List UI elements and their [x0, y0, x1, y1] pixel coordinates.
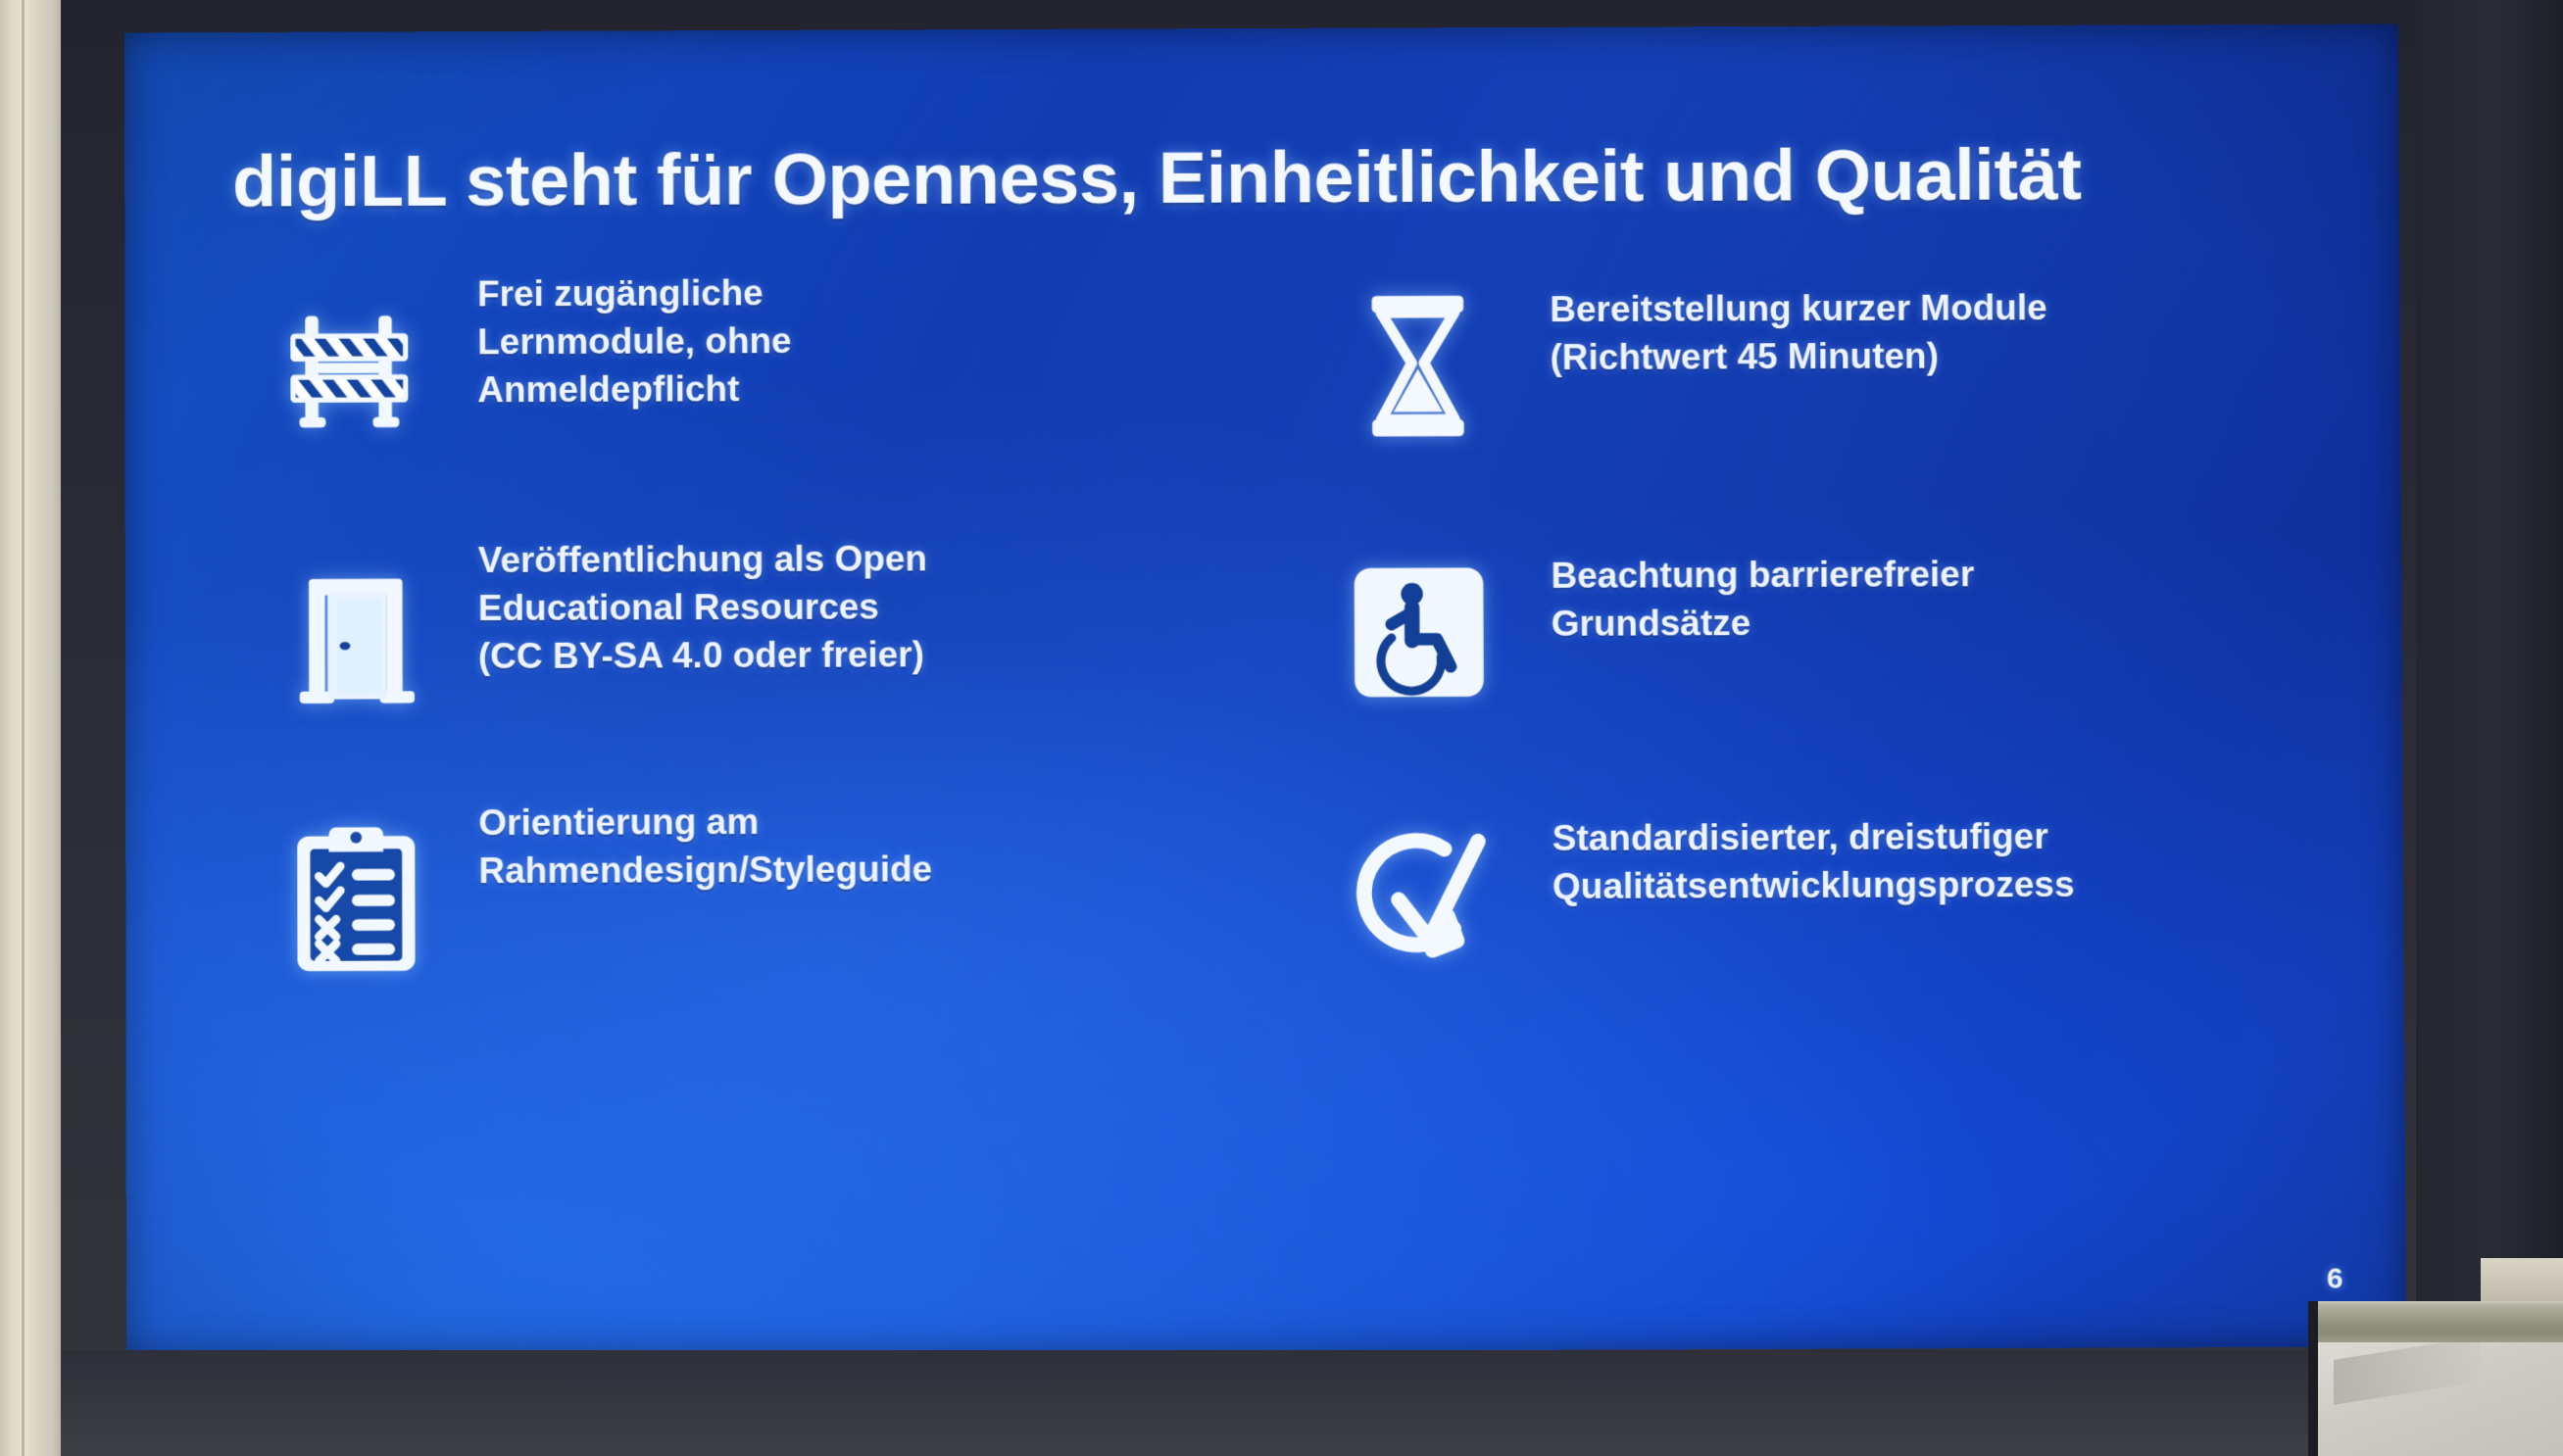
- list-item-text: Bereitstellung kurzer Module (Richtwert …: [1550, 258, 2047, 381]
- presentation-room-photo: digiLL steht für Openness, Einheitlichke…: [0, 0, 2563, 1456]
- list-item-text: Frei zugängliche Lernmodule, ohne Anmeld…: [477, 263, 792, 414]
- bottom-wall-band: [61, 1350, 2563, 1456]
- projected-slide: digiLL steht für Openness, Einheitlichke…: [124, 24, 2406, 1355]
- right-column: Bereitstellung kurzer Module (Richtwert …: [1285, 257, 2280, 1240]
- list-item: Bereitstellung kurzer Module (Richtwert …: [1285, 257, 2276, 506]
- list-item: Beachtung barrierefreier Grundsätze: [1286, 523, 2277, 772]
- right-wall-band: [2416, 0, 2563, 1391]
- hourglass-icon: [1285, 260, 1551, 471]
- page-title: digiLL steht für Openness, Einheitlichke…: [232, 134, 2249, 221]
- left-column: Frei zugängliche Lernmodule, ohne Anmeld…: [232, 262, 1225, 1245]
- checkmark-cycle-icon: [1287, 789, 1553, 1000]
- road-barrier-icon: [232, 264, 477, 475]
- list-item: Frei zugängliche Lernmodule, ohne Anmeld…: [232, 262, 1222, 510]
- content-grid: Frei zugängliche Lernmodule, ohne Anmeld…: [232, 257, 2324, 1244]
- list-item: Veröffentlichung als Open Educational Re…: [233, 527, 1224, 776]
- list-item-text: Beachtung barrierefreier Grundsätze: [1551, 524, 1974, 648]
- list-item-text: Standardisierter, dreistufiger Qualitäts…: [1552, 787, 2074, 911]
- list-item: Orientierung am Rahmendesign/Styleguide: [233, 790, 1224, 1039]
- list-item: Standardisierter, dreistufiger Qualitäts…: [1287, 786, 2279, 1035]
- clipboard-checklist-icon: [233, 793, 479, 1004]
- list-item-text: Orientierung am Rahmendesign/Styleguide: [478, 791, 932, 895]
- slide-number: 6: [2327, 1262, 2343, 1295]
- left-wall-strip: [0, 0, 61, 1456]
- flipchart-top-block: [2481, 1258, 2563, 1305]
- open-door-icon: [233, 530, 478, 742]
- list-item-text: Veröffentlichung als Open Educational Re…: [478, 528, 928, 680]
- flipchart-foreground: [2308, 1301, 2563, 1456]
- flipchart-rail: [2308, 1301, 2563, 1346]
- flipchart-edge: [2308, 1301, 2318, 1456]
- wheelchair-accessibility-icon: [1286, 526, 1552, 738]
- flipchart-paper: [2316, 1342, 2563, 1456]
